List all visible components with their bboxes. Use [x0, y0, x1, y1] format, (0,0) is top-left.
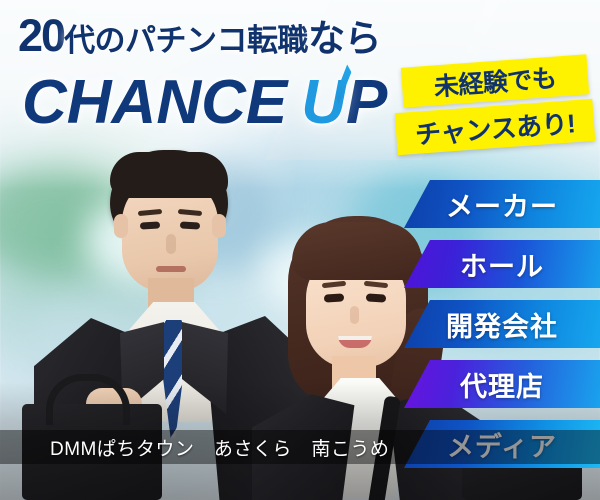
- category-button-maker[interactable]: メーカー: [404, 180, 600, 228]
- male-mouth: [156, 266, 186, 272]
- male-fringe: [110, 152, 228, 198]
- page-title: 20代のパチンコ転職なら: [18, 12, 381, 61]
- logo-letter-p: P: [346, 68, 387, 137]
- female-eye-left: [324, 293, 345, 302]
- female-nose: [350, 306, 359, 324]
- female-eye-right: [366, 293, 387, 302]
- male-eye-left: [140, 221, 160, 229]
- headline-body: 代のパチンコ転職: [64, 23, 308, 58]
- chance-up-logo: CHANCEUP: [22, 72, 387, 134]
- advertisement-banner[interactable]: 20代のパチンコ転職なら CHANCEUP 未経験でも チャンスあり! メーカー…: [0, 0, 600, 500]
- headline-number: 20: [18, 10, 64, 61]
- logo-letter-u-arrow-icon: U: [301, 72, 346, 134]
- category-label-agency: 代理店: [404, 365, 600, 404]
- male-nose: [166, 234, 176, 254]
- category-label-developer: 開発会社: [404, 305, 600, 344]
- female-bangs: [292, 222, 422, 280]
- category-button-developer[interactable]: 開発会社: [404, 300, 600, 348]
- category-button-agency[interactable]: 代理店: [404, 360, 600, 408]
- category-label-maker: メーカー: [404, 185, 600, 224]
- male-ear-right: [212, 214, 226, 238]
- credit-caption-bar: DMMぱちタウン あさくら 南こうめ: [0, 430, 600, 464]
- badge-no-experience-label: 未経験でも: [433, 59, 558, 104]
- male-eye-right: [180, 221, 200, 229]
- headline-tail: なら: [308, 18, 381, 59]
- category-label-hall: ホール: [404, 245, 600, 284]
- category-button-hall[interactable]: ホール: [404, 240, 600, 288]
- logo-word-chance: CHANCE: [22, 68, 287, 137]
- male-ear-left: [114, 214, 128, 238]
- credit-caption-text: DMMぱちタウン あさくら 南こうめ: [0, 434, 389, 461]
